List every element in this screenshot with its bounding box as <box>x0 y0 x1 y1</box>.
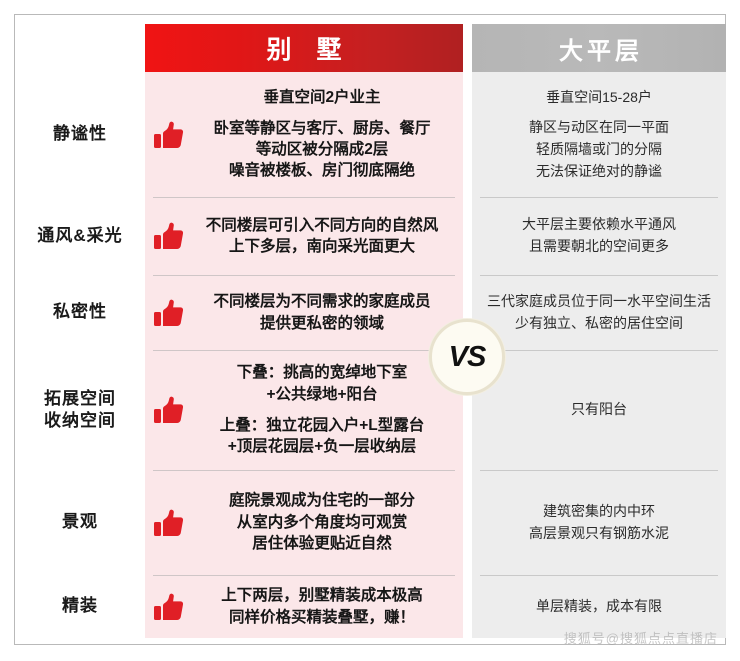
villa-text-line: 不同楼层为不同需求的家庭成员 <box>213 293 430 310</box>
villa-text-block: 庭院景观成为住宅的一部分从室内多个角度均可观赏居住体验更贴近自然 <box>191 490 453 554</box>
label-column-spacer <box>16 24 144 72</box>
flat-row-4: 只有阳台 <box>472 350 726 470</box>
flat-text-line: 单层精装，成本有限 <box>536 598 662 614</box>
flat-text-line: 无法保证绝对的静谧 <box>536 163 662 179</box>
flat-text-line: 大平层主要依赖水平通风 <box>522 216 676 232</box>
row-label-column: 静谧性通风&采光私密性拓展空间收纳空间景观精装 <box>16 24 144 638</box>
villa-text-line: 居住体验更贴近自然 <box>252 535 392 552</box>
villa-header: 别 墅 <box>145 24 463 72</box>
row-label-3: 私密性 <box>16 275 144 350</box>
vs-badge: VS <box>429 319 505 395</box>
flat-text-block: 大平层主要依赖水平通风且需要朝北的空间更多 <box>482 214 716 257</box>
row-label-stack: 静谧性通风&采光私密性拓展空间收纳空间景观精装 <box>16 72 144 638</box>
flat-row-3: 三代家庭成员位于同一水平空间生活少有独立、私密的居住空间 <box>472 275 726 350</box>
villa-text-block: 不同楼层为不同需求的家庭成员提供更私密的领域 <box>191 291 453 334</box>
flat-cell-text: 三代家庭成员位于同一水平空间生活少有独立、私密的居住空间 <box>482 291 716 334</box>
villa-body: 垂直空间2户业主卧室等静区与客厅、厨房、餐厅等动区被分隔成2层噪音被楼板、房门彻… <box>145 72 463 638</box>
flat-column: 大平层 垂直空间15-28户静区与动区在同一平面轻质隔墙或门的分隔无法保证绝对的… <box>472 24 726 638</box>
villa-cell-text: 不同楼层为不同需求的家庭成员提供更私密的领域 <box>191 291 453 334</box>
thumbs-up-icon <box>153 220 185 252</box>
flat-row-2: 大平层主要依赖水平通风且需要朝北的空间更多 <box>472 197 726 275</box>
flat-text-line: 建筑密集的内中环 <box>543 503 655 519</box>
villa-text-line: 上下两层，别墅精装成本极高 <box>221 587 423 604</box>
villa-cell-text: 上下两层，别墅精装成本极高同样价格买精装叠墅，赚！ <box>191 585 453 628</box>
villa-row-1: 垂直空间2户业主卧室等静区与客厅、厨房、餐厅等动区被分隔成2层噪音被楼板、房门彻… <box>145 72 463 197</box>
flat-header: 大平层 <box>472 24 726 72</box>
flat-row-1: 垂直空间15-28户静区与动区在同一平面轻质隔墙或门的分隔无法保证绝对的静谧 <box>472 72 726 197</box>
villa-text-line: +公共绿地+阳台 <box>266 386 377 403</box>
villa-cell-text: 不同楼层可引入不同方向的自然风上下多层，南向采光面更大 <box>191 215 453 258</box>
villa-row-4: 下叠：挑高的宽绰地下室+公共绿地+阳台上叠：独立花园入户+L型露台+顶层花园层+… <box>145 350 463 470</box>
thumbs-up-icon <box>153 507 185 539</box>
flat-text-block: 单层精装，成本有限 <box>482 596 716 618</box>
villa-text-line: +顶层花园层+负一层收纳层 <box>228 438 417 455</box>
villa-text-line: 从室内多个角度均可观赏 <box>237 514 408 531</box>
villa-text-block: 卧室等静区与客厅、厨房、餐厅等动区被分隔成2层噪音被楼板、房门彻底隔绝 <box>191 118 453 182</box>
villa-text-line: 上下多层，南向采光面更大 <box>229 238 415 255</box>
flat-cell-text: 大平层主要依赖水平通风且需要朝北的空间更多 <box>482 214 716 257</box>
villa-text-line: 庭院景观成为住宅的一部分 <box>229 492 415 509</box>
flat-text-line: 且需要朝北的空间更多 <box>529 238 669 254</box>
flat-text-block: 静区与动区在同一平面轻质隔墙或门的分隔无法保证绝对的静谧 <box>482 117 716 182</box>
flat-cell-text: 单层精装，成本有限 <box>482 596 716 618</box>
flat-text-line: 少有独立、私密的居住空间 <box>515 315 683 331</box>
villa-cell-text: 庭院景观成为住宅的一部分从室内多个角度均可观赏居住体验更贴近自然 <box>191 490 453 554</box>
row-label-2: 通风&采光 <box>16 197 144 275</box>
flat-text-block: 三代家庭成员位于同一水平空间生活少有独立、私密的居住空间 <box>482 291 716 334</box>
flat-text-block: 只有阳台 <box>482 399 716 421</box>
villa-row-2: 不同楼层可引入不同方向的自然风上下多层，南向采光面更大 <box>145 197 463 275</box>
flat-row-5: 建筑密集的内中环高层景观只有钢筋水泥 <box>472 470 726 575</box>
villa-text-line: 上叠：独立花园入户+L型露台 <box>220 417 425 434</box>
thumbs-up-icon <box>153 591 185 623</box>
villa-text-line: 同样价格买精装叠墅，赚！ <box>229 609 415 626</box>
flat-cell-text: 建筑密集的内中环高层景观只有钢筋水泥 <box>482 501 716 544</box>
villa-text-line: 等动区被分隔成2层 <box>256 141 389 158</box>
flat-text-line: 静区与动区在同一平面 <box>529 119 669 135</box>
flat-text-line: 轻质隔墙或门的分隔 <box>536 141 662 157</box>
flat-text-line: 高层景观只有钢筋水泥 <box>529 525 669 541</box>
flat-cell-text: 只有阳台 <box>482 399 716 421</box>
villa-lead-text: 垂直空间2户业主 <box>191 87 453 108</box>
villa-row-3: 不同楼层为不同需求的家庭成员提供更私密的领域 <box>145 275 463 350</box>
flat-text-block: 建筑密集的内中环高层景观只有钢筋水泥 <box>482 501 716 544</box>
villa-column: 别 墅 垂直空间2户业主卧室等静区与客厅、厨房、餐厅等动区被分隔成2层噪音被楼板… <box>145 24 463 638</box>
flat-lead-text: 垂直空间15-28户 <box>482 87 716 109</box>
villa-text-block: 不同楼层可引入不同方向的自然风上下多层，南向采光面更大 <box>191 215 453 258</box>
flat-cell-text: 垂直空间15-28户静区与动区在同一平面轻质隔墙或门的分隔无法保证绝对的静谧 <box>482 87 716 183</box>
row-label-4: 拓展空间收纳空间 <box>16 350 144 470</box>
row-label-5: 景观 <box>16 470 144 575</box>
watermark-text: 搜狐号@搜狐点点直播店 <box>564 628 718 647</box>
villa-text-block: 上下两层，别墅精装成本极高同样价格买精装叠墅，赚！ <box>191 585 453 628</box>
flat-body: 垂直空间15-28户静区与动区在同一平面轻质隔墙或门的分隔无法保证绝对的静谧大平… <box>472 72 726 638</box>
flat-text-line: 三代家庭成员位于同一水平空间生活 <box>487 293 711 309</box>
row-label-6: 精装 <box>16 575 144 638</box>
villa-text-line: 噪音被楼板、房门彻底隔绝 <box>229 162 415 179</box>
flat-text-line: 只有阳台 <box>571 401 627 417</box>
villa-cell-text: 垂直空间2户业主卧室等静区与客厅、厨房、餐厅等动区被分隔成2层噪音被楼板、房门彻… <box>191 87 453 182</box>
villa-text-line: 下叠：挑高的宽绰地下室 <box>237 364 408 381</box>
thumbs-up-icon <box>153 394 185 426</box>
villa-row-5: 庭院景观成为住宅的一部分从室内多个角度均可观赏居住体验更贴近自然 <box>145 470 463 575</box>
comparison-board: 静谧性通风&采光私密性拓展空间收纳空间景观精装 别 墅 垂直空间2户业主卧室等静… <box>0 0 740 661</box>
villa-block-1: 下叠：挑高的宽绰地下室+公共绿地+阳台 <box>191 362 453 405</box>
villa-text-line: 不同楼层可引入不同方向的自然风 <box>206 217 439 234</box>
villa-text-line: 提供更私密的领域 <box>260 315 384 332</box>
thumbs-up-icon <box>153 119 185 151</box>
villa-cell-text: 下叠：挑高的宽绰地下室+公共绿地+阳台上叠：独立花园入户+L型露台+顶层花园层+… <box>191 362 453 458</box>
villa-block-2: 上叠：独立花园入户+L型露台+顶层花园层+负一层收纳层 <box>191 415 453 458</box>
row-label-1: 静谧性 <box>16 72 144 197</box>
villa-row-6: 上下两层，别墅精装成本极高同样价格买精装叠墅，赚！ <box>145 575 463 638</box>
thumbs-up-icon <box>153 297 185 329</box>
villa-text-line: 卧室等静区与客厅、厨房、餐厅 <box>213 120 430 137</box>
